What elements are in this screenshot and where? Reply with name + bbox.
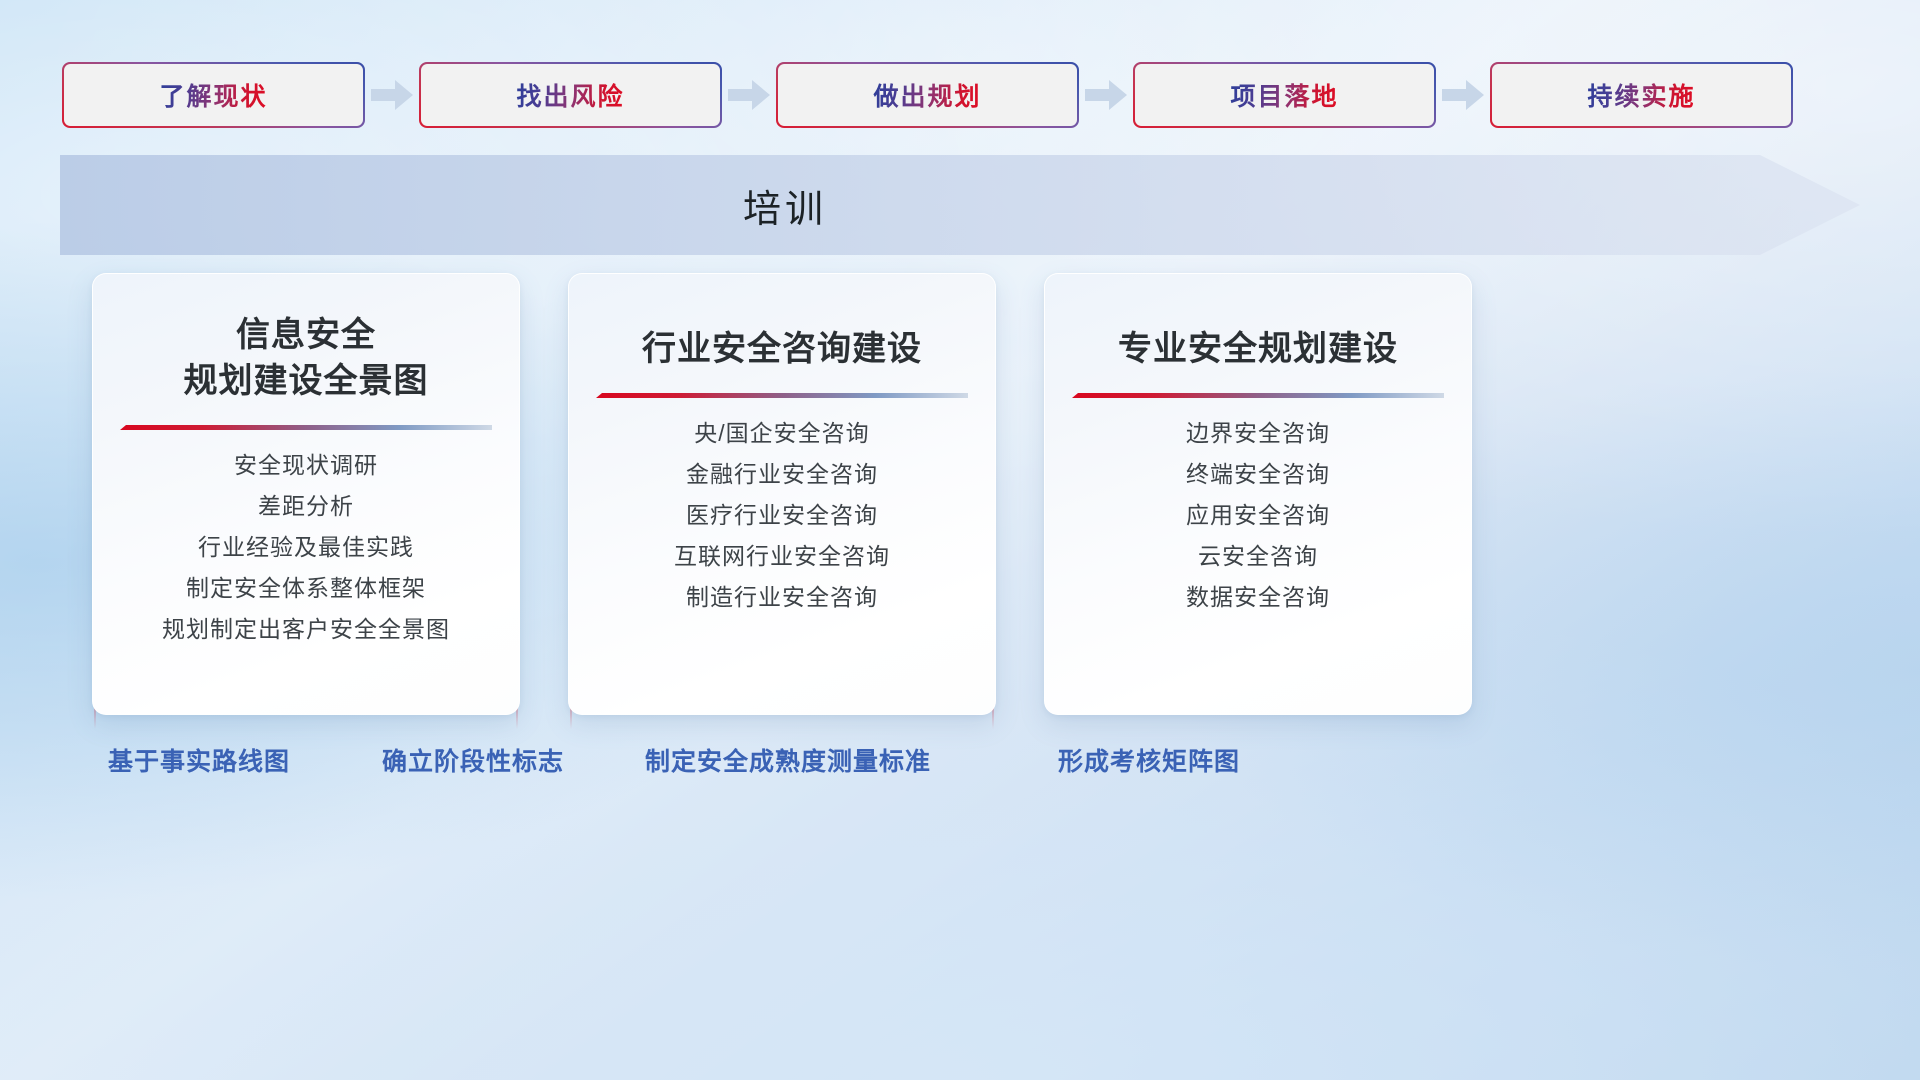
card-wrap-3: 专业安全规划建设 (1044, 273, 1472, 715)
caption-4: 形成考核矩阵图 (1058, 742, 1240, 778)
card-2-item-3: 医疗行业安全咨询 (686, 501, 878, 529)
step-box-5[interactable]: 持续实施 (1490, 62, 1793, 128)
step-label-2: 找出风险 (516, 77, 624, 113)
caption-2: 确立阶段性标志 (382, 742, 564, 778)
card-1-item-3: 行业经验及最佳实践 (198, 533, 414, 561)
step-box-4[interactable]: 项目落地 (1133, 62, 1436, 128)
card-2-item-4: 互联网行业安全咨询 (674, 542, 890, 570)
step-box-2[interactable]: 找出风险 (419, 62, 722, 128)
card-2-item-5: 制造行业安全咨询 (686, 583, 878, 611)
training-banner-label: 培训 (60, 155, 1510, 255)
card-divider-3 (1072, 392, 1444, 401)
step-label-3: 做出规划 (873, 77, 981, 113)
card-title-1: 信息安全 规划建设全景图 (184, 312, 429, 404)
card-title-2: 行业安全咨询建设 (642, 326, 922, 372)
card-1-item-1: 安全现状调研 (234, 451, 378, 479)
step-box-1[interactable]: 了解现状 (62, 62, 365, 128)
card-title-3: 专业安全规划建设 (1118, 326, 1398, 372)
card-3[interactable]: 专业安全规划建设 (1044, 273, 1472, 715)
card-3-item-4: 云安全咨询 (1198, 542, 1318, 570)
card-wrap-2: 行业安全咨询建设 (568, 273, 996, 715)
step-arrow-icon-3 (1079, 80, 1133, 110)
card-divider-1 (120, 424, 492, 433)
bottom-captions-row: 基于事实路线图 确立阶段性标志 制定安全成熟度测量标准 形成考核矩阵图 (0, 742, 1920, 786)
card-1-item-2: 差距分析 (258, 492, 354, 520)
card-2-item-2: 金融行业安全咨询 (686, 460, 878, 488)
process-steps-row: 了解现状 找出风险 做出规划 项目落地 (62, 62, 1862, 128)
card-list-2: 央/国企安全咨询 金融行业安全咨询 医疗行业安全咨询 互联网行业安全咨询 制造行… (569, 419, 995, 611)
card-3-item-3: 应用安全咨询 (1186, 501, 1330, 529)
card-1[interactable]: 信息安全 规划建设全景图 (92, 273, 520, 715)
caption-3: 制定安全成熟度测量标准 (645, 742, 931, 778)
step-box-3[interactable]: 做出规划 (776, 62, 1079, 128)
cards-row: 信息安全 规划建设全景图 (92, 273, 1852, 715)
card-3-item-2: 终端安全咨询 (1186, 460, 1330, 488)
card-2[interactable]: 行业安全咨询建设 (568, 273, 996, 715)
card-list-3: 边界安全咨询 终端安全咨询 应用安全咨询 云安全咨询 数据安全咨询 (1045, 419, 1471, 611)
card-3-item-1: 边界安全咨询 (1186, 419, 1330, 447)
card-1-item-5: 规划制定出客户安全全景图 (162, 615, 450, 643)
card-3-item-5: 数据安全咨询 (1186, 583, 1330, 611)
step-arrow-icon-2 (722, 80, 776, 110)
step-arrow-icon-1 (365, 80, 419, 110)
card-wrap-1: 信息安全 规划建设全景图 (92, 273, 520, 715)
slide-canvas: 了解现状 找出风险 做出规划 项目落地 (0, 0, 1920, 1080)
card-1-item-4: 制定安全体系整体框架 (186, 574, 426, 602)
step-label-5: 持续实施 (1587, 77, 1695, 113)
step-label-4: 项目落地 (1230, 77, 1338, 113)
step-label-1: 了解现状 (159, 77, 267, 113)
training-banner: 培训 (60, 155, 1860, 255)
card-list-1: 安全现状调研 差距分析 行业经验及最佳实践 制定安全体系整体框架 规划制定出客户… (93, 451, 519, 643)
card-2-item-1: 央/国企安全咨询 (694, 419, 869, 447)
step-arrow-icon-4 (1436, 80, 1490, 110)
caption-1: 基于事实路线图 (108, 742, 290, 778)
card-divider-2 (596, 392, 968, 401)
